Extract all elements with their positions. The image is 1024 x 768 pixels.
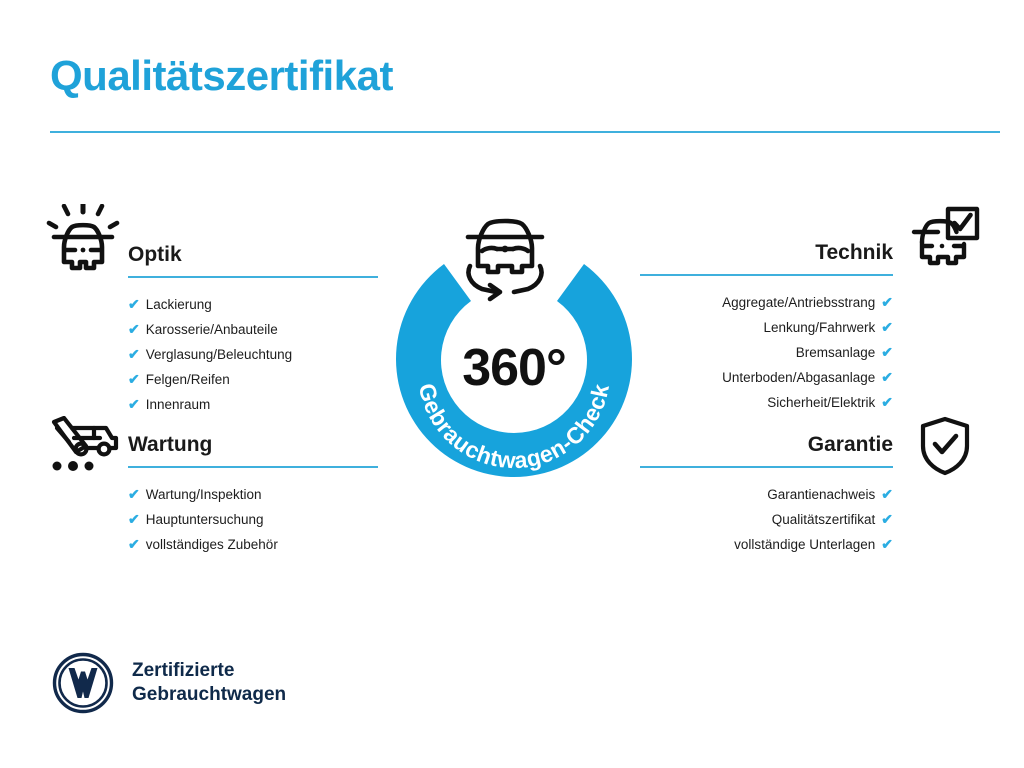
header-divider (50, 131, 1000, 133)
list-item-label: Wartung/Inspektion (146, 487, 262, 502)
vw-logo-icon (52, 652, 114, 714)
list-item-label: vollständiges Zubehör (146, 537, 278, 552)
list-item-label: vollständige Unterlagen (734, 537, 875, 552)
check-icon: ✔ (128, 346, 140, 362)
check-icon: ✔ (881, 486, 893, 502)
check-icon: ✔ (128, 396, 140, 412)
check-icon: ✔ (128, 296, 140, 312)
list-item: ✔Lackierung (128, 292, 378, 317)
list-item: Unterboden/Abgasanlage✔ (640, 365, 893, 390)
car-shine-icon (46, 204, 120, 281)
check-icon: ✔ (881, 536, 893, 552)
checklist: Garantienachweis✔ Qualitätszertifikat✔ v… (640, 482, 893, 557)
list-item-label: Hauptuntersuchung (146, 512, 264, 527)
section-title: Wartung (128, 432, 378, 458)
section-header: Optik (128, 242, 378, 278)
check-icon: ✔ (881, 511, 893, 527)
check-icon: ✔ (128, 511, 140, 527)
checklist: ✔Wartung/Inspektion ✔Hauptuntersuchung ✔… (128, 482, 378, 557)
list-item: ✔Karosserie/Anbauteile (128, 317, 378, 342)
list-item-label: Unterboden/Abgasanlage (722, 370, 875, 385)
brand-line-1: Zertifizierte (132, 659, 286, 683)
list-item: ✔Wartung/Inspektion (128, 482, 378, 507)
check-icon: ✔ (881, 319, 893, 335)
section-underline (640, 466, 893, 468)
car-rotate-icon (468, 221, 542, 299)
list-item-label: Lackierung (146, 297, 212, 312)
shield-check-icon (918, 416, 972, 481)
checklist: ✔Lackierung ✔Karosserie/Anbauteile ✔Verg… (128, 292, 378, 417)
section-header: Wartung (128, 432, 378, 468)
list-item: Qualitätszertifikat✔ (640, 507, 893, 532)
section-header: Garantie (640, 432, 893, 468)
brand-text: Zertifizierte Gebrauchtwagen (132, 659, 286, 707)
list-item: ✔Hauptuntersuchung (128, 507, 378, 532)
check-icon: ✔ (128, 321, 140, 337)
car-checkbox-icon (908, 206, 980, 273)
section-underline (640, 274, 893, 276)
list-item: Sicherheit/Elektrik✔ (640, 390, 893, 415)
section-underline (128, 276, 378, 278)
brand-lockup: Zertifizierte Gebrauchtwagen (52, 652, 286, 714)
list-item: ✔Verglasung/Beleuchtung (128, 342, 378, 367)
check-icon: ✔ (128, 371, 140, 387)
list-item-label: Bremsanlage (796, 345, 876, 360)
list-item-label: Qualitätszertifikat (772, 512, 876, 527)
list-item: Bremsanlage✔ (640, 340, 893, 365)
check-icon: ✔ (881, 344, 893, 360)
brand-line-2: Gebrauchtwagen (132, 683, 286, 707)
page-title: Qualitätszertifikat (50, 52, 393, 100)
section-technik: Technik Aggregate/Antriebsstrang✔ Lenkun… (640, 240, 893, 415)
check-icon: ✔ (128, 486, 140, 502)
check-icon: ✔ (881, 294, 893, 310)
list-item: Lenkung/Fahrwerk✔ (640, 315, 893, 340)
check-icon: ✔ (128, 536, 140, 552)
section-underline (128, 466, 378, 468)
pencil-car-icon (46, 416, 120, 479)
check-icon: ✔ (881, 369, 893, 385)
list-item-label: Innenraum (146, 397, 211, 412)
check-icon: ✔ (881, 394, 893, 410)
list-item: ✔Felgen/Reifen (128, 367, 378, 392)
list-item: ✔vollständiges Zubehör (128, 532, 378, 557)
section-header: Technik (640, 240, 893, 276)
list-item-label: Felgen/Reifen (146, 372, 230, 387)
section-title: Optik (128, 242, 378, 268)
section-title: Technik (640, 240, 893, 266)
section-garantie: Garantie Garantienachweis✔ Qualitätszert… (640, 432, 893, 557)
list-item-label: Garantienachweis (767, 487, 875, 502)
badge-360-check: Gebrauchtwagen-Check 360° (374, 196, 654, 486)
list-item: Aggregate/Antriebsstrang✔ (640, 290, 893, 315)
list-item-label: Lenkung/Fahrwerk (763, 320, 875, 335)
list-item: vollständige Unterlagen✔ (640, 532, 893, 557)
list-item-label: Verglasung/Beleuchtung (146, 347, 292, 362)
list-item-label: Sicherheit/Elektrik (767, 395, 875, 410)
section-title: Garantie (640, 432, 893, 458)
section-optik: Optik ✔Lackierung ✔Karosserie/Anbauteile… (128, 242, 378, 417)
list-item: Garantienachweis✔ (640, 482, 893, 507)
list-item-label: Karosserie/Anbauteile (146, 322, 278, 337)
checklist: Aggregate/Antriebsstrang✔ Lenkung/Fahrwe… (640, 290, 893, 415)
list-item-label: Aggregate/Antriebsstrang (722, 295, 875, 310)
section-wartung: Wartung ✔Wartung/Inspektion ✔Hauptunters… (128, 432, 378, 557)
list-item: ✔Innenraum (128, 392, 378, 417)
badge-value: 360° (374, 338, 654, 398)
